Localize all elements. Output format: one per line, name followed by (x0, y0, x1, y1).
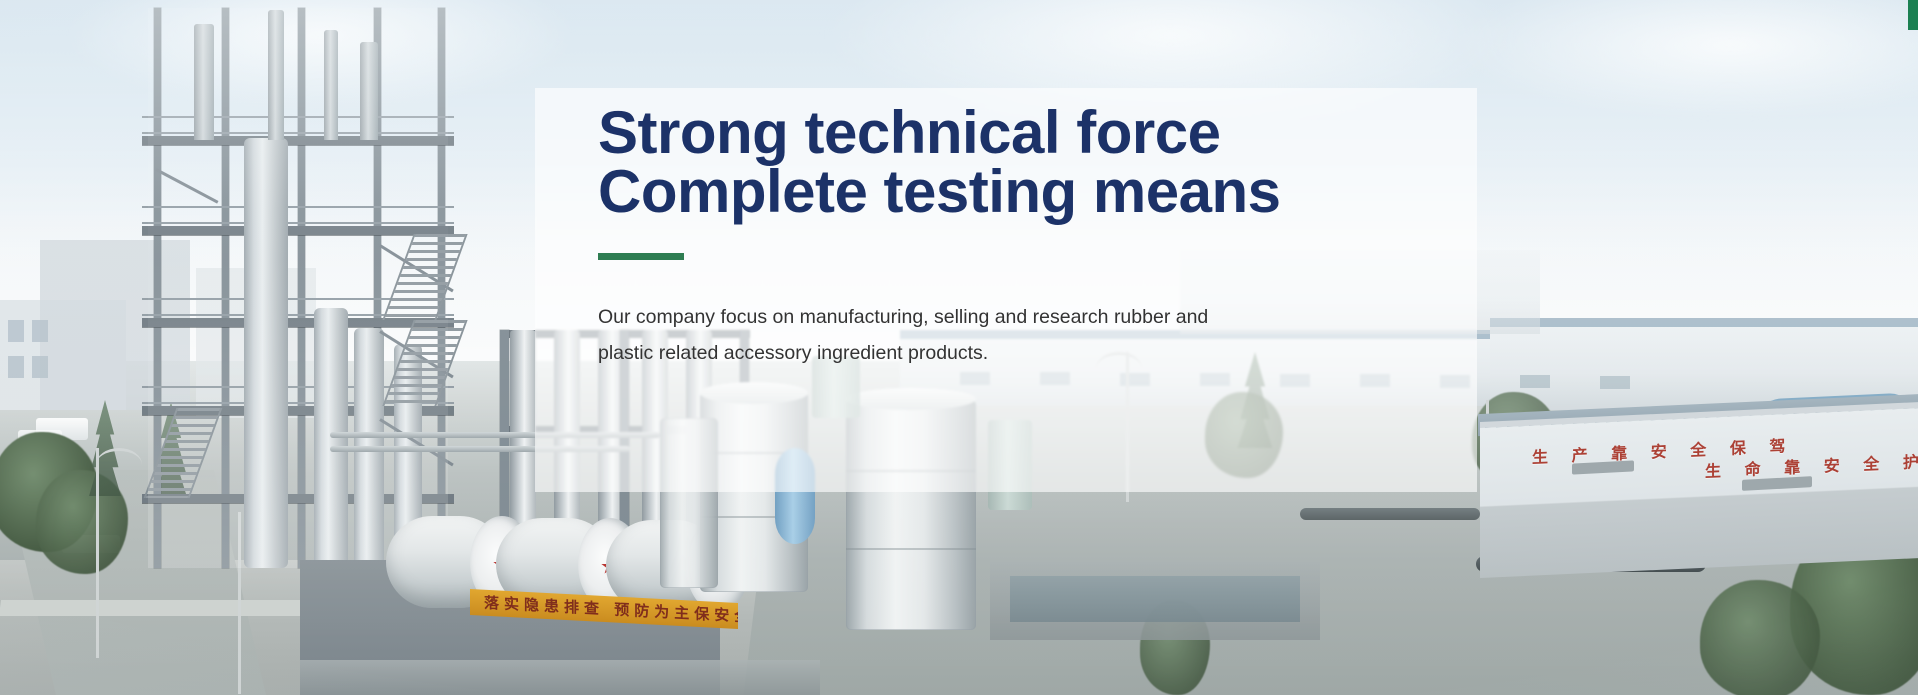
building-window (32, 356, 48, 378)
tower-deck (142, 136, 454, 145)
ground-pipe (1300, 508, 1480, 520)
tower-railing (142, 206, 454, 224)
street-lamp (96, 448, 99, 658)
accent-bar (598, 253, 684, 260)
shed-window (1600, 376, 1630, 389)
edge-marker[interactable] (1908, 0, 1918, 30)
tower-stack (360, 42, 378, 140)
tower-stack (324, 30, 338, 140)
hero-copy: Strong technical force Complete testing … (598, 103, 1478, 371)
tower-deck (142, 226, 454, 235)
building-window (8, 320, 24, 342)
hero-title-line-1: Strong technical force (598, 103, 1478, 162)
building-window (8, 356, 24, 378)
tower-stack (194, 24, 214, 140)
shed-roof-band (1490, 318, 1918, 327)
hero-title-line-2: Complete testing means (598, 162, 1478, 221)
shed-window (1520, 375, 1550, 388)
tower-stack (268, 10, 284, 140)
water-basin (1010, 576, 1300, 622)
warehouse-building (1480, 408, 1918, 578)
building-window (32, 320, 48, 342)
tower-railing (142, 116, 454, 134)
tower-column (298, 8, 305, 568)
hero-banner-stage: 落实隐患排查 预防为主保安全 生 产 靠 安 全 保 驾 生 命 靠 安 全 护… (0, 0, 1918, 695)
process-vessel (244, 138, 288, 568)
distillation-tower (148, 8, 448, 568)
storage-tank-ring (846, 548, 976, 550)
tower-brace (155, 168, 218, 204)
tower-column (222, 8, 229, 568)
hero-subtitle: Our company focus on manufacturing, sell… (598, 299, 1238, 371)
tree (1700, 580, 1820, 695)
containment-bund (300, 660, 820, 695)
hero-subtitle-line-2: related accessory ingredient products. (659, 342, 989, 364)
process-vessel (314, 308, 348, 570)
